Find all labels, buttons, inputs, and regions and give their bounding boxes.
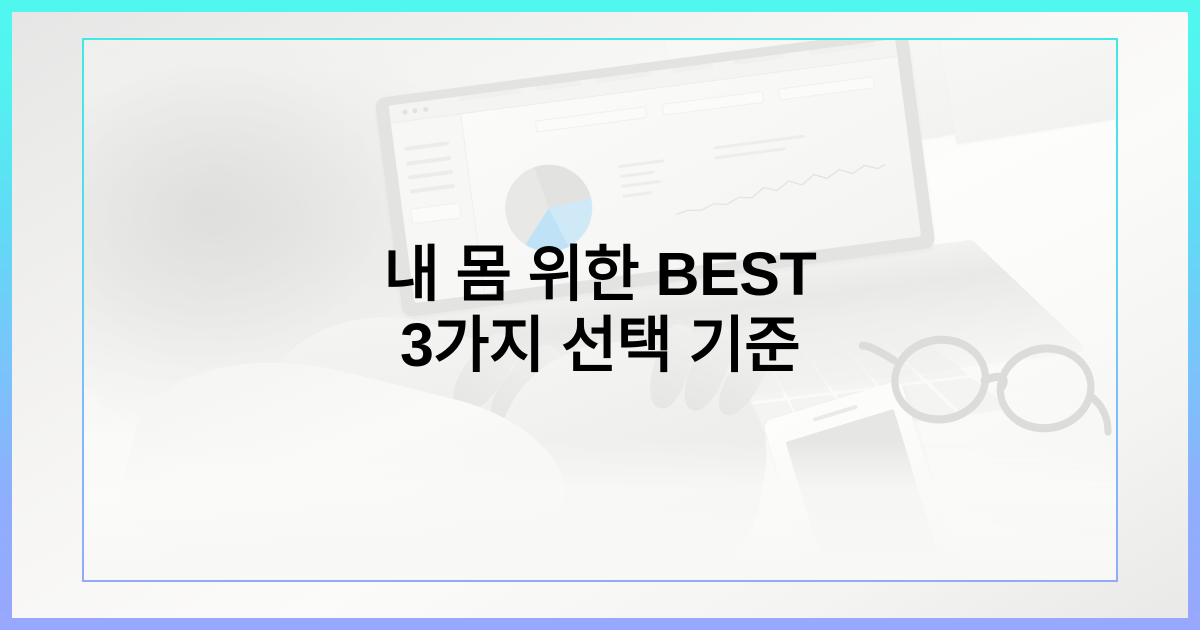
nav-pill [808, 42, 874, 56]
card-mat: 내 몸 위한 BEST 3가지 선택 기준 [12, 12, 1188, 618]
legend-line [714, 147, 785, 159]
nav-pill [459, 88, 520, 101]
desk-surface [84, 440, 1116, 580]
window-dot-icon [401, 109, 407, 115]
thumbnail-card: 내 몸 위한 BEST 3가지 선택 기준 [0, 0, 1200, 630]
dashboard-sidebar [390, 114, 485, 303]
pie-chart [500, 159, 597, 256]
legend-line [617, 159, 663, 168]
legend-line [713, 135, 805, 150]
window-dot-icon [412, 107, 418, 113]
phone-speaker [813, 405, 858, 422]
inner-frame-border: 내 몸 위한 BEST 3가지 선택 기준 [82, 38, 1118, 582]
nav-pill [672, 63, 713, 73]
nav-pill [535, 80, 581, 91]
background-photo [84, 40, 1116, 580]
legend-line [620, 180, 661, 188]
nav-pill [732, 54, 783, 66]
nav-pill [596, 71, 652, 83]
sparkline-chart [672, 160, 889, 220]
legend-line [621, 191, 652, 198]
window-dot-icon [423, 106, 429, 112]
legend-line [619, 170, 655, 178]
